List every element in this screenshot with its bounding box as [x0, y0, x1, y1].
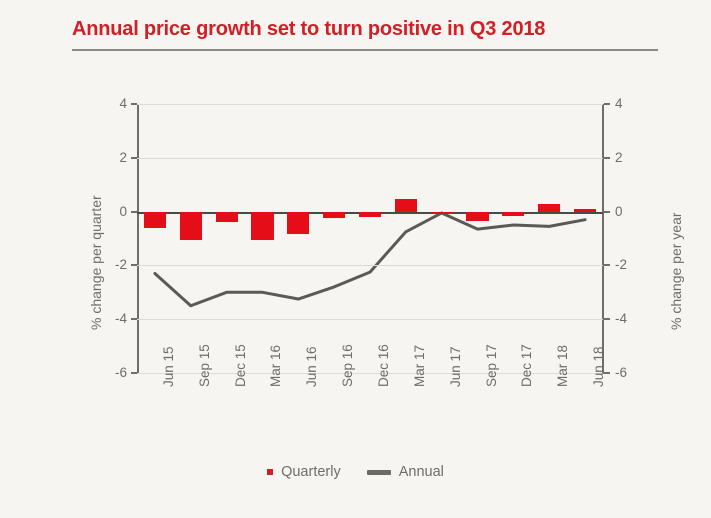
gridline [137, 104, 603, 105]
y-axis-right-tick-label: -2 [615, 258, 655, 272]
x-axis-tick-label: Jun 16 [304, 346, 319, 387]
x-axis-tick-label: Dec 17 [519, 344, 534, 387]
y-axis-right-tick-mark [604, 318, 610, 320]
bar [574, 209, 596, 212]
x-axis-tick-label: Jun 18 [591, 346, 606, 387]
bar [180, 212, 202, 240]
y-axis-left-tick-label: 4 [87, 97, 127, 111]
x-axis-tick-label: Dec 16 [376, 344, 391, 387]
x-axis-tick-label: Mar 16 [268, 345, 283, 387]
y-axis-left-title: % change per quarter [88, 195, 104, 330]
bar [395, 199, 417, 211]
chart-container: 420-2-4-6 420-2-4-6 Jun 15Sep 15Dec 15Ma… [0, 0, 711, 518]
x-axis-tick-label: Dec 15 [233, 344, 248, 387]
x-axis-tick-label: Mar 17 [412, 345, 427, 387]
y-axis-left-tick-mark [131, 157, 137, 159]
y-axis-left-tick-label: 2 [87, 151, 127, 165]
bar [323, 212, 345, 219]
bar [466, 212, 488, 221]
bar [216, 212, 238, 223]
annual-line-path [155, 213, 585, 306]
y-axis-left-tick-mark [131, 211, 137, 213]
bar [144, 212, 166, 228]
legend-item-quarterly[interactable]: Quarterly [267, 464, 341, 480]
y-axis-right-tick-label: 4 [615, 97, 655, 111]
bar [431, 212, 453, 215]
x-axis-tick-label: Sep 16 [340, 344, 355, 387]
bar [502, 212, 524, 216]
y-axis-right-tick-label: -6 [615, 366, 655, 380]
gridline [137, 158, 603, 159]
gridline [137, 319, 603, 320]
x-axis-tick-label: Mar 18 [555, 345, 570, 387]
y-axis-left-tick-mark [131, 103, 137, 105]
legend-item-annual[interactable]: Annual [367, 464, 444, 480]
y-axis-right-tick-mark [604, 211, 610, 213]
chart-legend: Quarterly Annual [0, 464, 711, 480]
line-marker-icon [367, 470, 391, 475]
y-axis-right-tick-label: 0 [615, 205, 655, 219]
x-axis-tick-label: Sep 15 [197, 344, 212, 387]
y-axis-right-tick-mark [604, 103, 610, 105]
y-axis-right-tick-label: -4 [615, 312, 655, 326]
bar [287, 212, 309, 235]
bar [538, 204, 560, 212]
x-axis-tick-label: Jun 15 [161, 346, 176, 387]
bar [359, 212, 381, 217]
y-axis-left-tick-mark [131, 372, 137, 374]
y-axis-right-title: % change per year [668, 212, 684, 330]
legend-label-annual: Annual [399, 464, 444, 480]
annual-line-series [137, 104, 603, 373]
y-axis-left-tick-mark [131, 318, 137, 320]
x-axis-tick-label: Jun 17 [448, 346, 463, 387]
x-axis-tick-label: Sep 17 [484, 344, 499, 387]
y-axis-left-tick-mark [131, 264, 137, 266]
y-axis-left-tick-label: -6 [87, 366, 127, 380]
bar [251, 212, 273, 240]
plot-area [137, 104, 603, 373]
y-axis-right-tick-mark [604, 264, 610, 266]
y-axis-right-tick-label: 2 [615, 151, 655, 165]
gridline [137, 265, 603, 266]
legend-label-quarterly: Quarterly [281, 464, 341, 480]
y-axis-right-tick-mark [604, 157, 610, 159]
square-marker-icon [267, 469, 273, 475]
